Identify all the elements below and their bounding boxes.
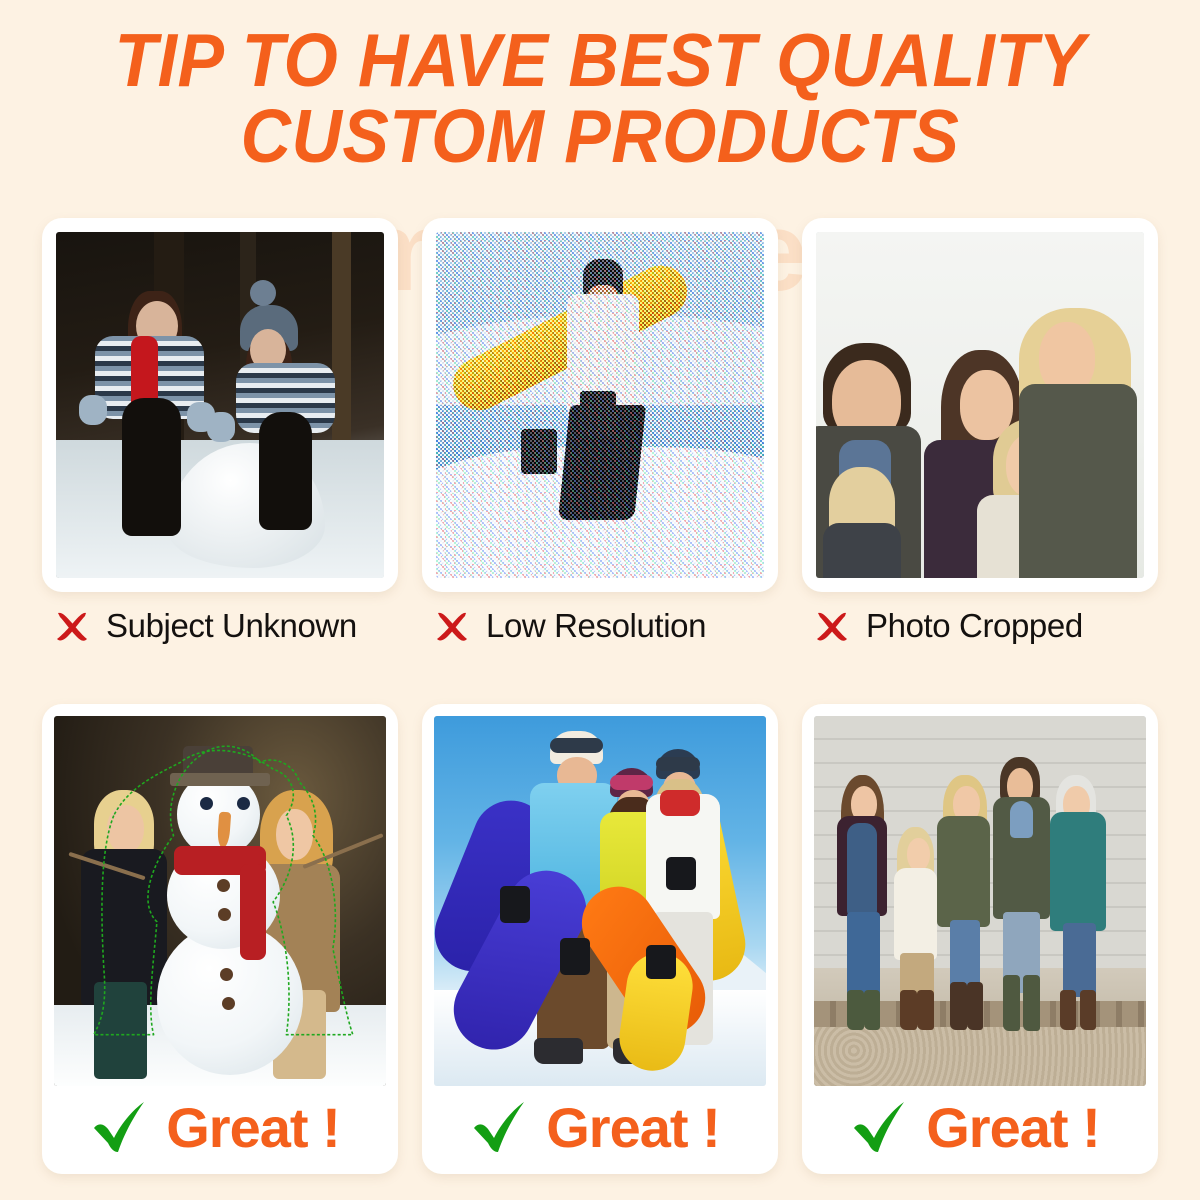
check-mark-icon — [88, 1096, 150, 1158]
photo-great-snowman — [54, 716, 386, 1086]
card-photo-cropped[interactable] — [802, 218, 1158, 592]
card-subject-unknown[interactable] — [42, 218, 398, 592]
title-line-2: CUSTOM PRODUCTS — [42, 98, 1158, 174]
caption-low-resolution: Low Resolution — [422, 606, 778, 646]
great-text: Great ! — [166, 1095, 340, 1160]
great-label-snowboarders: Great ! — [434, 1086, 766, 1168]
photo-great-snowboarders — [434, 716, 766, 1086]
caption-subject-unknown: Subject Unknown — [42, 606, 398, 646]
great-text: Great ! — [546, 1095, 720, 1160]
x-mark-icon — [52, 606, 92, 646]
card-low-resolution[interactable] — [422, 218, 778, 592]
caption-text: Low Resolution — [486, 607, 706, 645]
caption-text: Photo Cropped — [866, 607, 1083, 645]
check-mark-icon — [848, 1096, 910, 1158]
check-mark-icon — [468, 1096, 530, 1158]
photo-subject-unknown — [56, 232, 384, 578]
x-mark-icon — [812, 606, 852, 646]
good-examples-row: Great ! — [0, 704, 1200, 1174]
card-great-snowboarders[interactable]: Great ! — [422, 704, 778, 1174]
caption-text: Subject Unknown — [106, 607, 357, 645]
great-label-family: Great ! — [814, 1086, 1146, 1168]
examples-grid: Subject Unknown Low Resolution Photo Cro… — [0, 218, 1200, 1174]
great-label-snowman: Great ! — [54, 1086, 386, 1168]
caption-photo-cropped: Photo Cropped — [802, 606, 1158, 646]
great-text: Great ! — [926, 1095, 1100, 1160]
title-line-1: TIP TO HAVE BEST QUALITY — [42, 22, 1158, 98]
x-mark-icon — [432, 606, 472, 646]
bad-examples-captions: Subject Unknown Low Resolution Photo Cro… — [0, 606, 1200, 646]
photo-low-resolution — [436, 232, 764, 578]
bad-examples-row — [0, 218, 1200, 592]
card-great-family[interactable]: Great ! — [802, 704, 1158, 1174]
photo-great-family — [814, 716, 1146, 1086]
card-great-snowman[interactable]: Great ! — [42, 704, 398, 1174]
photo-cropped — [816, 232, 1144, 578]
page-title: TIP TO HAVE BEST QUALITY CUSTOM PRODUCTS — [0, 22, 1200, 174]
